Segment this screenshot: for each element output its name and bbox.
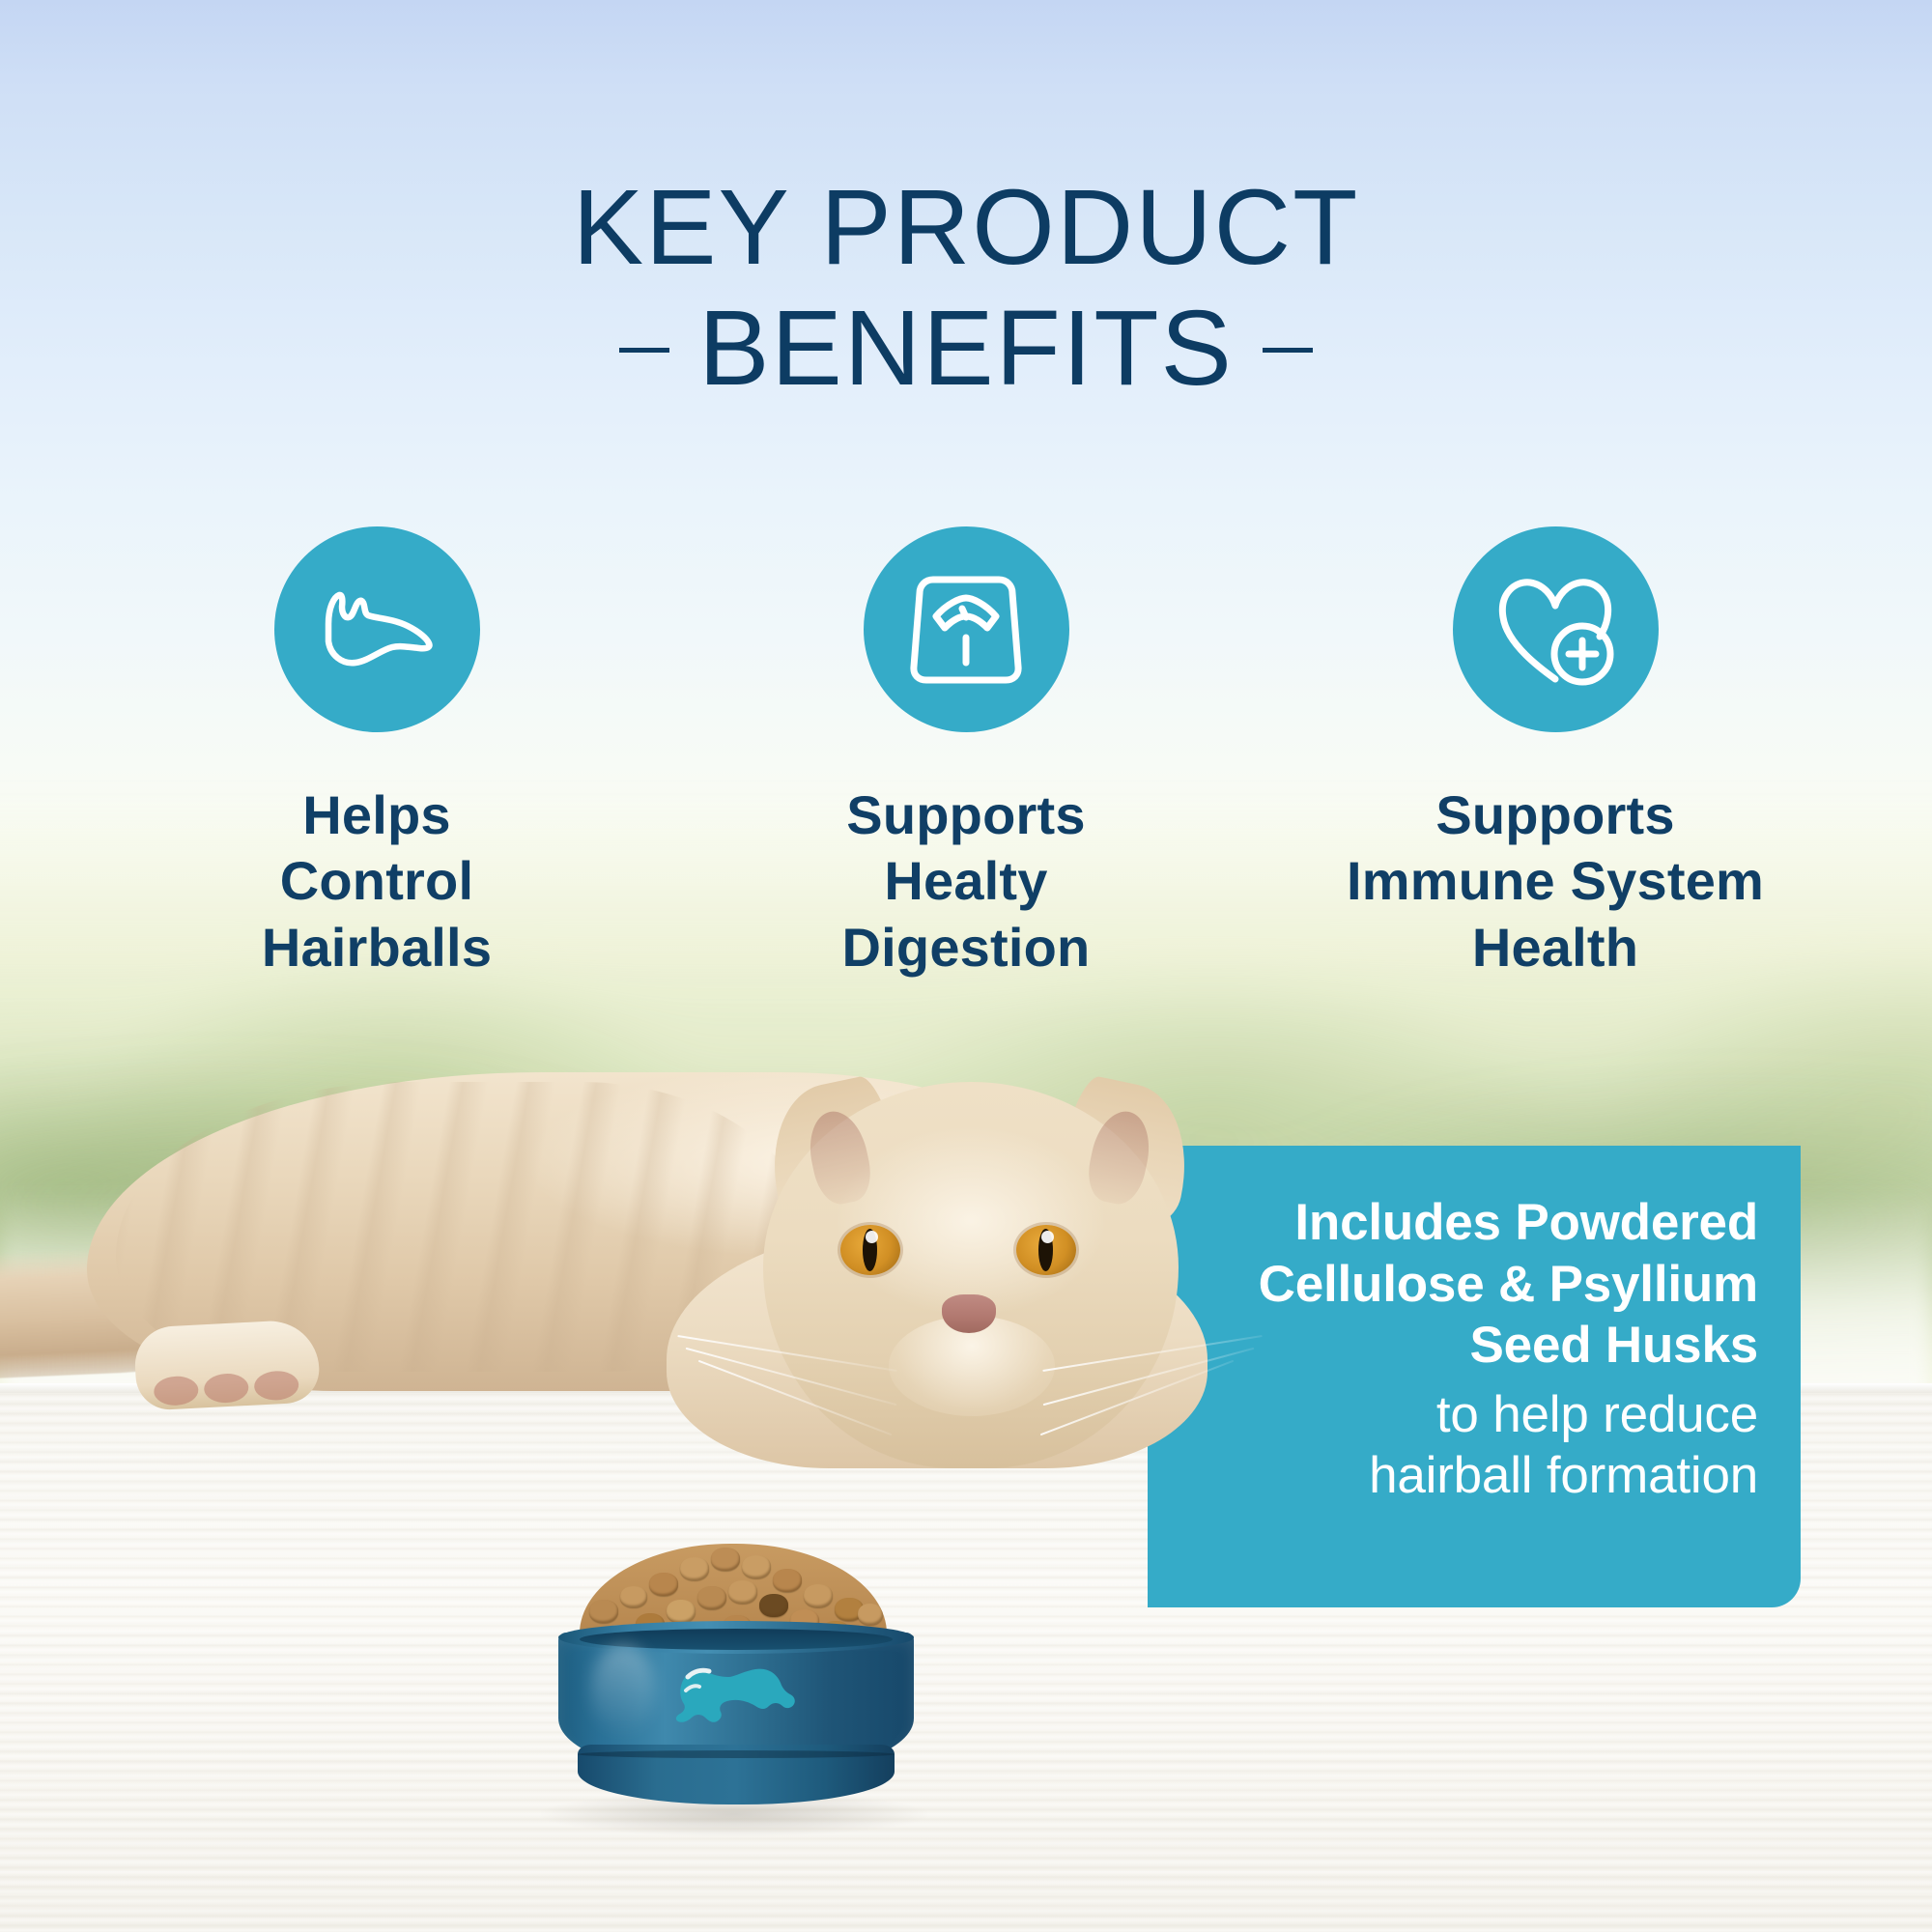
- benefit-item-digestion: Supports Healty Digestion: [715, 526, 1217, 980]
- benefit-label-hairballs: Helps Control Hairballs: [262, 782, 492, 980]
- title-line-2: BENEFITS: [0, 293, 1932, 406]
- callout-headline: Includes Powdered Cellulose & Psyllium S…: [1186, 1192, 1758, 1377]
- product-benefits-graphic: KEY PRODUCT BENEFITS Helps Control Hairb…: [0, 0, 1932, 1932]
- benefit-label-immune: Supports Immune System Health: [1347, 782, 1764, 980]
- benefit-label-digestion: Supports Healty Digestion: [842, 782, 1091, 980]
- title-line-1: KEY PRODUCT: [0, 172, 1932, 285]
- page-title: KEY PRODUCT BENEFITS: [0, 172, 1932, 405]
- benefit-item-immune: Supports Immune System Health: [1304, 526, 1806, 980]
- benefit-item-hairballs: Helps Control Hairballs: [126, 526, 628, 980]
- bowl-highlight: [591, 1644, 655, 1737]
- benefits-row: Helps Control Hairballs Supports Healty …: [126, 526, 1806, 980]
- bowl-base-groove: [578, 1750, 895, 1758]
- title-line-2-text: BENEFITS: [698, 289, 1234, 408]
- cat-eye-glint-right: [1041, 1231, 1054, 1243]
- ingredient-callout-box: Includes Powdered Cellulose & Psyllium S…: [1148, 1146, 1801, 1607]
- weight-scale-icon: [864, 526, 1069, 732]
- callout-subline: to help reduce hairball formation: [1186, 1384, 1758, 1507]
- heart-plus-icon: [1453, 526, 1659, 732]
- buffalo-logo-icon: [667, 1654, 808, 1743]
- title-dash-left-icon: [619, 348, 669, 353]
- cat-eye-glint-left: [866, 1231, 878, 1243]
- hairball-icon: [274, 526, 480, 732]
- cat-front-paw-left: [133, 1319, 321, 1411]
- title-dash-right-icon: [1263, 348, 1313, 353]
